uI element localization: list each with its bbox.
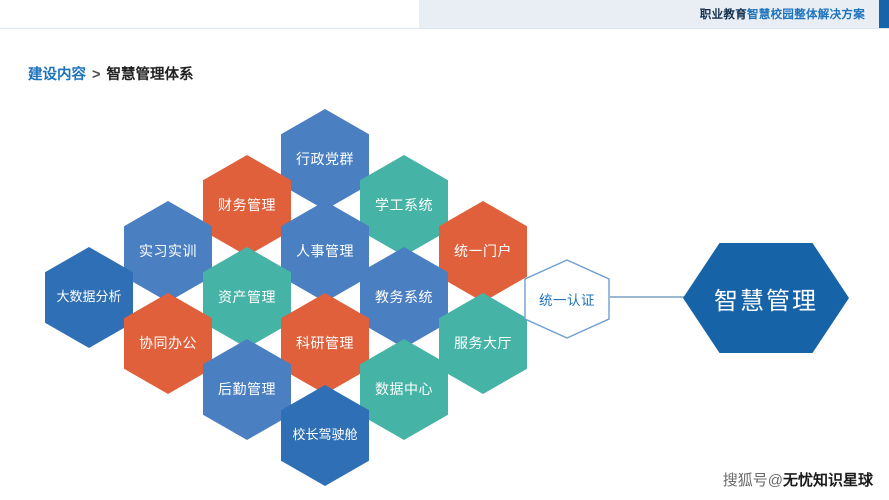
result-node[interactable]: 智慧管理 (683, 243, 849, 353)
hex-node-label: 校长驾驶舱 (292, 428, 357, 442)
hex-node[interactable]: 行政党群 (281, 109, 369, 210)
hex-node-label: 学工系统 (375, 198, 433, 213)
hex-node-label: 教务系统 (375, 290, 433, 305)
hex-node[interactable]: 大数据分析 (45, 247, 133, 348)
hex-node[interactable]: 财务管理 (203, 155, 291, 256)
gateway-node[interactable]: 统一认证 (524, 259, 610, 339)
hex-node[interactable]: 教务系统 (360, 247, 448, 348)
hex-node-label: 实习实训 (139, 244, 197, 259)
hex-node-label: 行政党群 (296, 152, 354, 167)
hex-node[interactable]: 校长驾驶舱 (281, 385, 369, 486)
hex-node-label: 后勤管理 (218, 382, 276, 397)
hex-node[interactable]: 统一门户 (439, 201, 527, 302)
hex-node-label: 财务管理 (218, 198, 276, 213)
hex-node-label: 统一门户 (454, 244, 512, 259)
hex-node[interactable]: 数据中心 (360, 339, 448, 440)
hex-node[interactable]: 协同办公 (124, 293, 212, 394)
watermark: 搜狐号@无忧知识星球 (723, 469, 873, 490)
hex-node-label: 数据中心 (375, 382, 433, 397)
hex-node[interactable]: 实习实训 (124, 201, 212, 302)
hex-node-label: 科研管理 (296, 336, 354, 351)
hex-node-label: 人事管理 (296, 244, 354, 259)
hex-node[interactable]: 科研管理 (281, 293, 369, 394)
bottom-edge (0, 496, 889, 500)
gateway-node-label: 统一认证 (524, 259, 610, 339)
hex-node[interactable]: 人事管理 (281, 201, 369, 302)
result-node-label: 智慧管理 (714, 281, 818, 316)
hex-node-label: 协同办公 (139, 336, 197, 351)
hex-node[interactable]: 后勤管理 (203, 339, 291, 440)
hex-node-label: 大数据分析 (56, 290, 121, 304)
diagram-canvas: 行政党群财务管理学工系统实习实训人事管理统一门户大数据分析资产管理教务系统协同办… (0, 0, 889, 500)
hex-node[interactable]: 学工系统 (360, 155, 448, 256)
hex-node[interactable]: 服务大厅 (439, 293, 527, 394)
hex-node-label: 资产管理 (218, 290, 276, 305)
watermark-name: 无忧知识星球 (783, 472, 873, 489)
watermark-prefix: 搜狐号@ (723, 472, 783, 489)
hex-node-label: 服务大厅 (454, 336, 512, 351)
hex-node[interactable]: 资产管理 (203, 247, 291, 348)
connector-line (610, 296, 690, 298)
